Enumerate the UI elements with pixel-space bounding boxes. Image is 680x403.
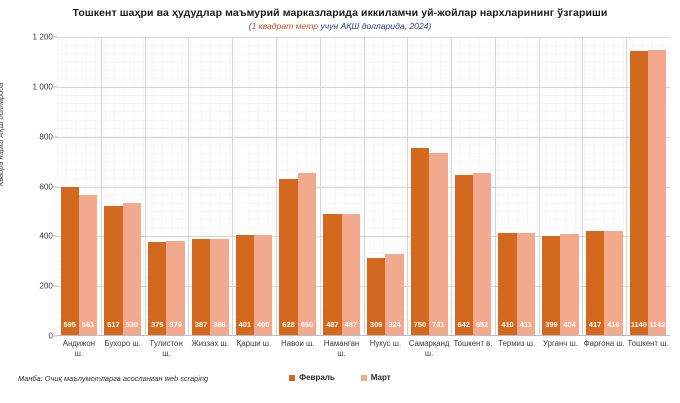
bar-fill: 595: [61, 187, 79, 335]
bar-fill: 400: [254, 235, 272, 335]
bar-value-label: 517: [104, 320, 122, 329]
bar-mar[interactable]: 650: [298, 173, 316, 335]
bar-fill: 652: [473, 173, 491, 335]
x-axis-labels: Андижон ш.Бухоро ш.Гулистон ш.Жиззах ш.Қ…: [57, 339, 670, 358]
bar-feb[interactable]: 487: [323, 214, 341, 335]
x-axis-tick-label: Навои ш.: [276, 339, 320, 358]
subtitle-rest-text: учун АҚШ долларида, 2024): [318, 21, 431, 31]
bar-fill: 379: [166, 241, 184, 335]
bar-mar[interactable]: 561: [79, 195, 97, 335]
bar-fill: 309: [367, 258, 385, 335]
legend-label: Март: [371, 373, 391, 382]
bar-feb[interactable]: 642: [455, 175, 473, 335]
bar-value-label: 650: [298, 320, 316, 329]
bar-group: 642652: [451, 37, 495, 335]
bar-value-label: 387: [192, 320, 210, 329]
bar-feb[interactable]: 387: [192, 239, 210, 335]
bar-fill: 416: [604, 231, 622, 335]
chart-title: Тошкент шаҳри ва ҳудудлар маъмурий марка…: [0, 7, 680, 19]
bar-mar[interactable]: 400: [254, 235, 272, 335]
bar-feb[interactable]: 417: [586, 231, 604, 335]
y-axis-tick-label: 0: [9, 332, 53, 341]
bar-value-label: 416: [604, 320, 622, 329]
bar-group: 628650: [276, 37, 320, 335]
bar-groups: 5955615175303753793873864014006286504874…: [57, 37, 670, 335]
bar-value-label: 379: [166, 320, 184, 329]
bar-feb[interactable]: 410: [498, 233, 516, 335]
bar-fill: 401: [236, 235, 254, 335]
bar-fill: 517: [104, 206, 122, 335]
x-axis-line: [57, 335, 670, 336]
y-axis-tick-label: 1 000: [9, 82, 53, 91]
x-axis-tick-label: Урганч ш.: [539, 339, 583, 358]
bar-fill: 404: [560, 234, 578, 335]
bar-fill: 375: [148, 242, 166, 335]
x-axis-tick-label: Наманган ш.: [320, 339, 364, 358]
bar-feb[interactable]: 309: [367, 258, 385, 335]
bar-mar[interactable]: 379: [166, 241, 184, 335]
bar-group: 410411: [495, 37, 539, 335]
legend-label: Февраль: [299, 373, 335, 382]
bar-value-label: 411: [517, 320, 535, 329]
y-axis-tick-mark: [52, 336, 57, 337]
bar-mar[interactable]: 530: [123, 203, 141, 335]
bar-group: 487487: [320, 37, 364, 335]
bar-value-label: 309: [367, 320, 385, 329]
bar-fill: 399: [542, 236, 560, 335]
y-axis-tick-label: 800: [9, 132, 53, 141]
bar-group: 399404: [539, 37, 583, 335]
bar-value-label: 400: [254, 320, 272, 329]
bar-value-label: 1140: [630, 320, 648, 329]
x-axis-tick-label: Термиз ш.: [495, 339, 539, 358]
legend-swatch: [361, 375, 367, 381]
chart-legend: ФевральМарт: [0, 373, 680, 382]
bar-value-label: 404: [560, 320, 578, 329]
bar-group: 595561: [57, 37, 101, 335]
chart-container: Тошкент шаҳри ва ҳудудлар маъмурий марка…: [0, 0, 680, 403]
bar-fill: 628: [279, 179, 297, 335]
bar-feb[interactable]: 750: [411, 148, 429, 335]
bar-mar[interactable]: 324: [385, 254, 403, 335]
x-axis-tick-label: Самарқанд ш.: [407, 339, 451, 358]
bar-mar[interactable]: 652: [473, 173, 491, 335]
legend-item[interactable]: Март: [361, 373, 391, 382]
chart-subtitle: (1 квадрат метр учун АҚШ долларида, 2024…: [0, 21, 680, 31]
bar-feb[interactable]: 628: [279, 179, 297, 335]
bar-fill: 386: [210, 239, 228, 335]
legend-item[interactable]: Февраль: [289, 373, 335, 382]
bar-mar[interactable]: 416: [604, 231, 622, 335]
bar-fill: 410: [498, 233, 516, 335]
bar-feb[interactable]: 401: [236, 235, 254, 335]
bar-value-label: 386: [210, 320, 228, 329]
y-axis-tick-label: 400: [9, 232, 53, 241]
bar-feb[interactable]: 517: [104, 206, 122, 335]
bar-fill: 387: [192, 239, 210, 335]
bar-value-label: 628: [279, 320, 297, 329]
bar-fill: 487: [323, 214, 341, 335]
x-axis-tick-label: Тошкент ш.: [626, 339, 670, 358]
bar-value-label: 401: [236, 320, 254, 329]
y-axis-tick-label: 600: [9, 182, 53, 191]
bar-value-label: 375: [148, 320, 166, 329]
bar-value-label: 410: [498, 320, 516, 329]
bar-fill: 487: [342, 214, 360, 335]
bar-fill: 561: [79, 195, 97, 335]
bar-fill: 530: [123, 203, 141, 335]
bar-value-label: 487: [342, 320, 360, 329]
bar-feb[interactable]: 1140: [630, 51, 648, 335]
x-axis-tick-label: Гулистон ш.: [145, 339, 189, 358]
bar-value-label: 1142: [648, 320, 666, 329]
bar-group: 417416: [582, 37, 626, 335]
x-axis-tick-label: Нукус ш.: [363, 339, 407, 358]
x-axis-tick-label: Бухоро ш.: [101, 339, 145, 358]
bar-group: 375379: [145, 37, 189, 335]
bar-value-label: 642: [455, 320, 473, 329]
legend-swatch: [289, 375, 295, 381]
bar-fill: 750: [411, 148, 429, 335]
x-axis-tick-label: Қарши ш.: [232, 339, 276, 358]
bar-fill: 324: [385, 254, 403, 335]
bar-mar[interactable]: 1142: [648, 50, 666, 335]
bar-group: 517530: [101, 37, 145, 335]
bar-group: 11401142: [626, 37, 670, 335]
bar-mar[interactable]: 731: [429, 153, 447, 335]
bar-value-label: 399: [542, 320, 560, 329]
bar-value-label: 561: [79, 320, 97, 329]
bar-value-label: 750: [411, 320, 429, 329]
bar-value-label: 417: [586, 320, 604, 329]
subtitle-accent-text: 1 квадрат метр: [252, 21, 319, 31]
bar-value-label: 530: [123, 320, 141, 329]
bar-group: 750731: [407, 37, 451, 335]
bar-fill: 411: [517, 233, 535, 335]
bar-group: 401400: [232, 37, 276, 335]
x-axis-tick-label: Фарғона ш.: [582, 339, 626, 358]
x-axis-tick-label: Тошкент в.: [451, 339, 495, 358]
bar-value-label: 487: [323, 320, 341, 329]
bar-fill: 731: [429, 153, 447, 335]
bar-mar[interactable]: 404: [560, 234, 578, 335]
bar-mar[interactable]: 487: [342, 214, 360, 335]
bar-value-label: 652: [473, 320, 491, 329]
bar-mar[interactable]: 386: [210, 239, 228, 335]
bar-mar[interactable]: 411: [517, 233, 535, 335]
bar-group: 309324: [363, 37, 407, 335]
bar-fill: 650: [298, 173, 316, 335]
bar-fill: 417: [586, 231, 604, 335]
bar-group: 387386: [188, 37, 232, 335]
bar-value-label: 324: [385, 320, 403, 329]
bar-feb[interactable]: 595: [61, 187, 79, 335]
bar-value-label: 595: [61, 320, 79, 329]
y-axis-tick-label: 1 200: [9, 33, 53, 42]
y-axis-tick-label: 200: [9, 282, 53, 291]
bar-value-label: 731: [429, 320, 447, 329]
bar-fill: 1142: [648, 50, 666, 335]
x-axis-tick-label: Жиззах ш.: [188, 339, 232, 358]
x-axis-tick-label: Андижон ш.: [57, 339, 101, 358]
bar-feb[interactable]: 399: [542, 236, 560, 335]
bar-feb[interactable]: 375: [148, 242, 166, 335]
bar-fill: 642: [455, 175, 473, 335]
y-axis-title: Квадра нархи АҚШ долларида: [0, 0, 5, 186]
bar-fill: 1140: [630, 51, 648, 335]
